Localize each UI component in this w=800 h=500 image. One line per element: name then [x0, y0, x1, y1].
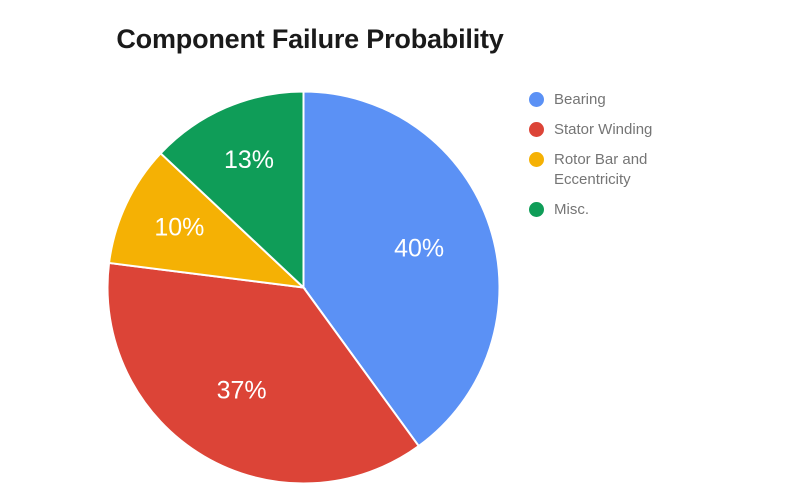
legend-item-label: Rotor Bar and Eccentricity [554, 150, 676, 190]
legend-item-label: Bearing [554, 90, 606, 110]
chart-title: Component Failure Probability [0, 24, 620, 55]
legend-color-swatch-icon [529, 152, 544, 167]
pie-slice-label: 37% [217, 377, 267, 405]
pie-chart-container: Component Failure Probability 40%37%10%1… [0, 0, 800, 500]
legend-item-label: Stator Winding [554, 120, 652, 140]
legend-item[interactable]: Rotor Bar and Eccentricity [529, 150, 759, 190]
pie-plot-area: 40%37%10%13% [107, 91, 500, 484]
pie-svg: 40%37%10%13% [107, 91, 500, 484]
legend-item[interactable]: Misc. [529, 200, 759, 220]
legend-color-swatch-icon [529, 92, 544, 107]
legend-color-swatch-icon [529, 122, 544, 137]
pie-slice-label: 40% [394, 235, 444, 263]
pie-slices-group [108, 92, 500, 484]
legend-item[interactable]: Bearing [529, 90, 759, 110]
pie-slice-label: 13% [224, 146, 274, 174]
legend-item-label: Misc. [554, 200, 589, 220]
chart-legend: BearingStator WindingRotor Bar and Eccen… [529, 90, 759, 230]
pie-slice-label: 10% [154, 214, 204, 242]
legend-color-swatch-icon [529, 202, 544, 217]
legend-item[interactable]: Stator Winding [529, 120, 759, 140]
